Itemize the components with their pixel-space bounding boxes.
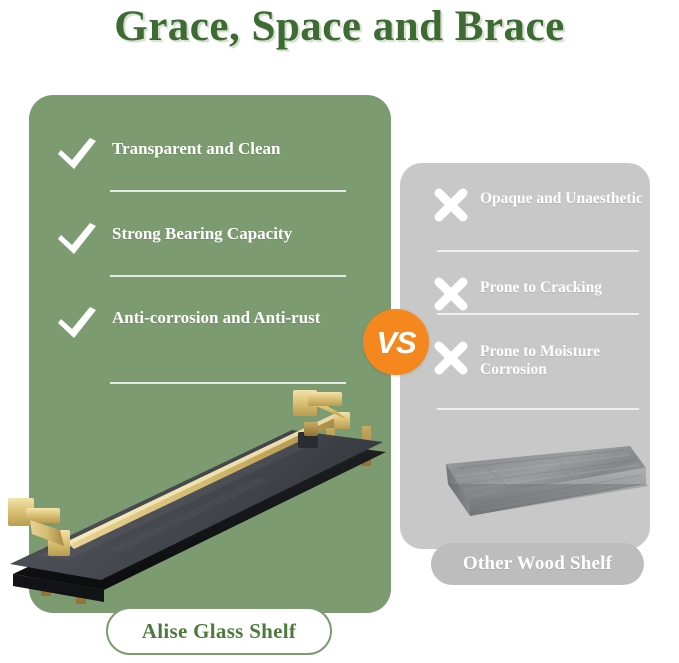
pro-product-label: Alise Glass Shelf [106, 607, 332, 655]
pro-feature-label: Anti-corrosion and Anti-rust [112, 305, 320, 328]
x-icon [434, 277, 468, 311]
check-icon [56, 136, 98, 172]
x-icon [434, 188, 468, 222]
pro-feature-label: Strong Bearing Capacity [112, 221, 292, 244]
wood-shelf-image [424, 440, 648, 548]
versus-badge: VS [363, 309, 429, 375]
con-feature-row: Prone to Cracking [434, 277, 650, 311]
glass-shelf-image [8, 378, 392, 616]
pro-product-label-text: Alise Glass Shelf [142, 619, 296, 644]
pro-divider [110, 275, 346, 277]
pro-divider [110, 190, 346, 192]
check-icon [56, 221, 98, 257]
con-divider [437, 408, 639, 410]
con-feature-label: Prone to Moisture Corrosion [480, 341, 650, 380]
pro-feature-label: Transparent and Clean [112, 136, 280, 159]
con-product-label-text: Other Wood Shelf [463, 553, 612, 575]
check-icon [56, 305, 98, 341]
x-icon [434, 341, 468, 375]
con-feature-label: Prone to Cracking [480, 277, 602, 297]
pro-feature-row: Transparent and Clean [56, 136, 356, 172]
versus-badge-label: VS [376, 327, 415, 358]
con-product-label: Other Wood Shelf [431, 543, 644, 585]
con-feature-row: Opaque and Unaesthetic [434, 188, 650, 222]
con-feature-label: Opaque and Unaesthetic [480, 188, 643, 208]
page-title: Grace, Space and Brace [0, 2, 679, 51]
pro-feature-row: Anti-corrosion and Anti-rust [56, 305, 356, 341]
con-divider [437, 313, 639, 315]
pro-feature-row: Strong Bearing Capacity [56, 221, 356, 257]
con-divider [437, 250, 639, 252]
con-feature-row: Prone to Moisture Corrosion [434, 341, 650, 380]
